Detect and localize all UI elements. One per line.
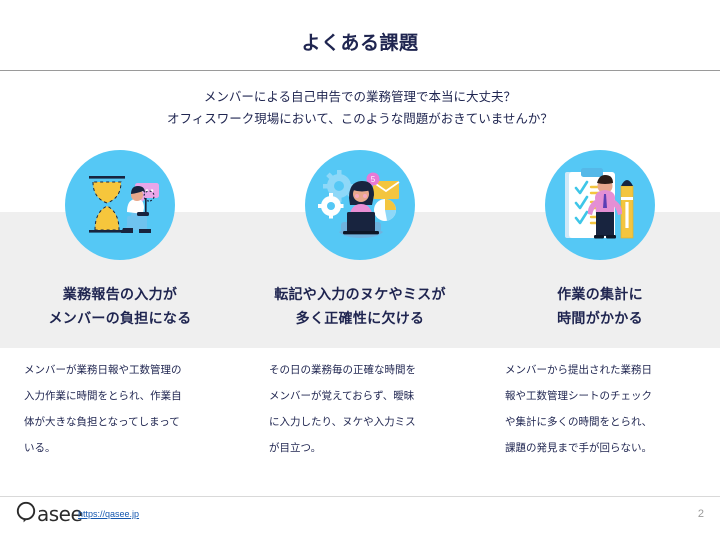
column-3: 作業の集計に 時間がかかる メンバーから提出された業務日 報や工数管理シートのチ… (480, 150, 720, 461)
column-3-body-line-1: メンバーから提出された業務日 (505, 357, 705, 383)
slide-canvas: よくある課題 メンバーによる自己申告での業務管理で本当に大丈夫？ オフィスワーク… (0, 0, 720, 540)
column-3-heading-line-2: 時間がかかる (557, 306, 643, 330)
qasee-logo: asee (16, 503, 82, 525)
column-3-body-line-4: 課題の発見まで手が回らない。 (505, 435, 705, 461)
column-1-body-line-4: いる。 (24, 435, 224, 461)
column-2: 5 (240, 150, 480, 461)
column-1-heading: 業務報告の入力が メンバーの負担になる (49, 282, 192, 330)
column-1-heading-line-2: メンバーの負担になる (49, 306, 192, 330)
hourglass-person-laptop-icon (65, 150, 175, 260)
footer-divider (0, 496, 720, 497)
page-number: 2 (698, 508, 704, 520)
subtitle-line-2: オフィスワーク現場において、このような問題がおきていませんか？ (0, 108, 720, 130)
column-3-heading-line-1: 作業の集計に (557, 282, 643, 306)
column-1-body-line-3: 体が大きな負担となってしまって (24, 409, 224, 435)
column-1-body-line-1: メンバーが業務日報や工数管理の (24, 357, 224, 383)
column-3-body-line-3: や集計に多くの時間をとられ、 (505, 409, 705, 435)
qasee-website-link[interactable]: https://qasee.jp (78, 509, 139, 519)
column-3-body-line-2: 報や工数管理シートのチェック (505, 383, 705, 409)
qasee-logo-text: asee (37, 504, 82, 524)
column-2-heading: 転記や入力のヌケやミスが 多く正確性に欠ける (274, 282, 446, 330)
column-1: 業務報告の入力が メンバーの負担になる メンバーが業務日報や工数管理の 入力作業… (0, 150, 240, 461)
column-1-body: メンバーが業務日報や工数管理の 入力作業に時間をとられ、作業自 体が大きな負担と… (16, 357, 224, 461)
column-3-heading: 作業の集計に 時間がかかる (557, 282, 643, 330)
header-divider (0, 70, 720, 71)
subtitle-line-1: メンバーによる自己申告での業務管理で本当に大丈夫？ (0, 86, 720, 108)
column-1-heading-line-1: 業務報告の入力が (49, 282, 192, 306)
page-title: よくある課題 (0, 28, 720, 55)
column-2-body-line-4: が目立つ。 (269, 435, 469, 461)
mail-badge-count: 5 (371, 175, 376, 184)
column-2-heading-line-2: 多く正確性に欠ける (274, 306, 446, 330)
subtitle-block: メンバーによる自己申告での業務管理で本当に大丈夫？ オフィスワーク現場において、… (0, 86, 720, 130)
column-2-heading-line-1: 転記や入力のヌケやミスが (274, 282, 446, 306)
checklist-clipboard-person-pencil-icon (545, 150, 655, 260)
column-2-body-line-3: に入力したり、ヌケや入力ミス (269, 409, 469, 435)
columns-container: 業務報告の入力が メンバーの負担になる メンバーが業務日報や工数管理の 入力作業… (0, 150, 720, 461)
person-laptop-gears-mail-icon: 5 (305, 150, 415, 260)
column-2-body-line-1: その日の業務毎の正確な時間を (269, 357, 469, 383)
qasee-speech-bubble-q-logo (16, 501, 36, 528)
column-2-body: その日の業務毎の正確な時間を メンバーが覚えておらず、曖昧 に入力したり、ヌケや… (251, 357, 469, 461)
column-1-body-line-2: 入力作業に時間をとられ、作業自 (24, 383, 224, 409)
column-3-body: メンバーから提出された業務日 報や工数管理シートのチェック や集計に多くの時間を… (495, 357, 705, 461)
column-2-body-line-2: メンバーが覚えておらず、曖昧 (269, 383, 469, 409)
